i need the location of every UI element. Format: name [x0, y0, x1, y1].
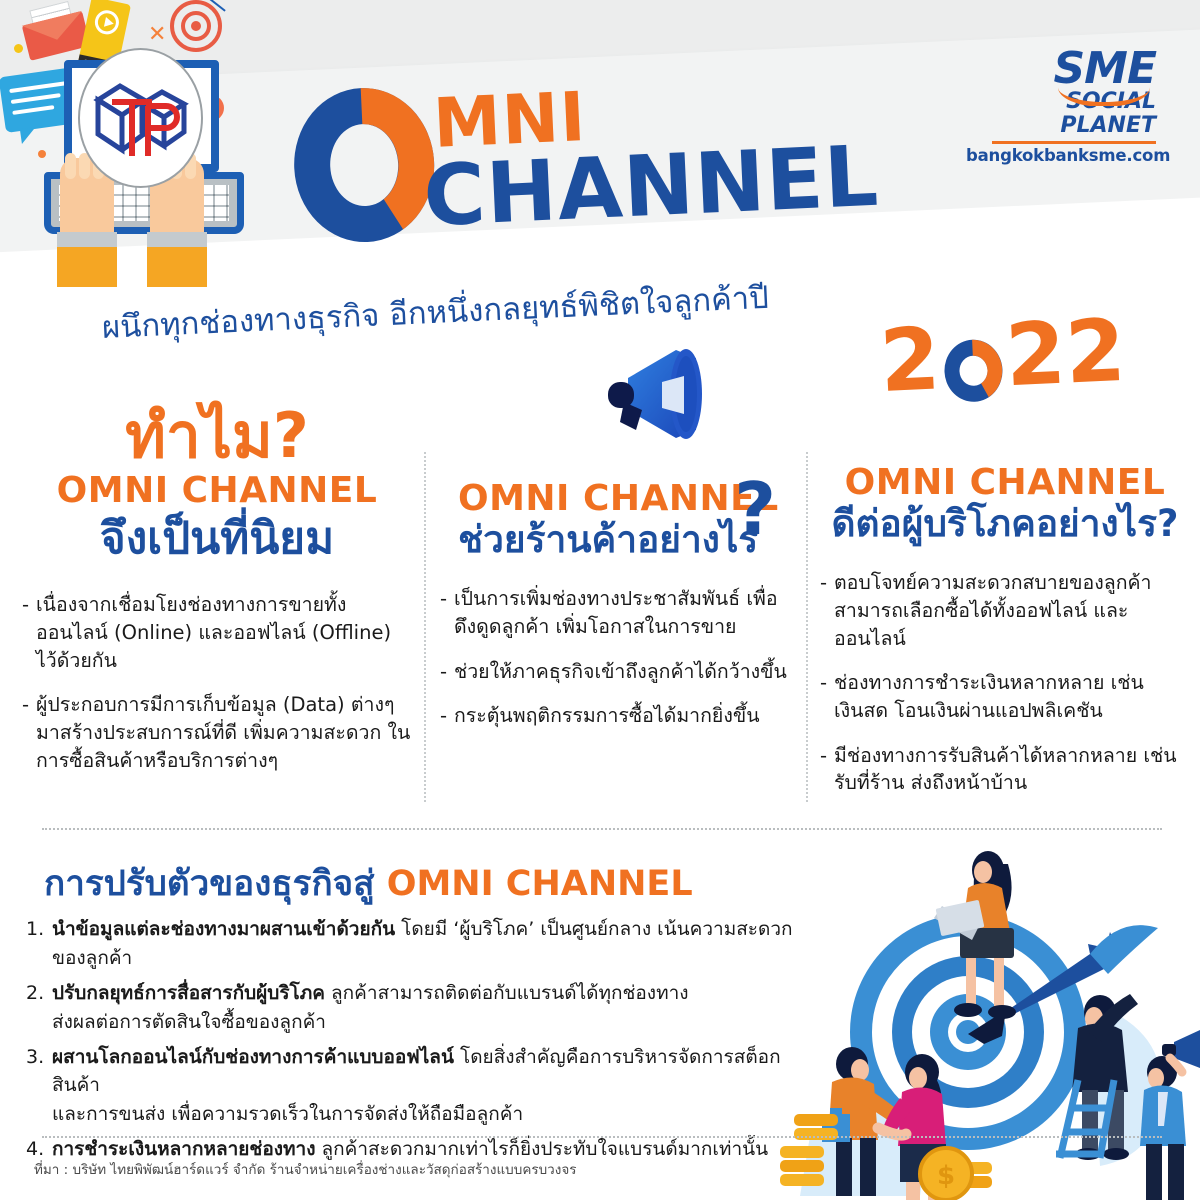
list-item: 2. ปรับกลยุทธ์การสื่อสารกับผู้บริโภค ลูก… — [26, 979, 816, 1037]
omni-o-ring-icon — [287, 81, 442, 250]
col1-heading-big: ทำไม? — [22, 404, 412, 468]
bullet-text: มีช่องทางการรับสินค้าได้หลากหลาย เช่น รั… — [834, 742, 1190, 797]
sme-logo-url: bangkokbanksme.com — [966, 146, 1156, 165]
column-consumer-benefits: OMNI CHANNEL ดีต่อผู้บริโภคอย่างไร? - ตอ… — [820, 404, 1190, 814]
step-bold: การชำระเงินหลากหลายช่องทาง — [52, 1138, 315, 1160]
col3-heading-blue: ดีต่อผู้บริโภคอย่างไร? — [820, 504, 1190, 545]
sme-social-planet-logo[interactable]: SME SOCIAL PLANET bangkokbanksme.com — [966, 48, 1156, 165]
list-item: 3. ผสานโลกออนไลน์กับช่องทางการค้าแบบออฟไ… — [26, 1043, 816, 1130]
bullet-dash: - — [820, 569, 834, 652]
col1-heading-blue: จึงเป็นที่นิยม — [22, 515, 412, 563]
bullet-dash: - — [440, 702, 454, 730]
step-number: 1. — [26, 915, 52, 973]
flat-icons-cluster: ✕ — [0, 0, 330, 300]
col3-heading-brand: OMNI CHANNEL — [820, 462, 1190, 504]
list-item: - กระตุ้นพฤติกรรมการซื้อได้มากยิ่งขึ้น — [440, 702, 800, 730]
step-rest: ลูกค้าสามารถติดต่อกับแบรนด์ได้ทุกช่องทาง — [325, 982, 689, 1004]
bullet-text: ช่องทางการชำระเงินหลากหลาย เช่น เงินสด โ… — [834, 669, 1190, 724]
step-rest: ลูกค้าสะดวกมากเท่าไรก็ยิ่งประทับใจแบรนด์… — [315, 1138, 768, 1160]
step-continuation: ส่งผลต่อการตัดสินใจซื้อของลูกค้า — [52, 1008, 816, 1037]
column-divider-1 — [424, 452, 426, 802]
dot-decor-3 — [14, 44, 23, 53]
list-item: - เนื่องจากเชื่อมโยงช่องทางการขายทั้งออน… — [22, 591, 412, 674]
omni-channel-wordmark: MNI CHANNEL — [286, 45, 974, 266]
col3-heading-group: OMNI CHANNEL ดีต่อผู้บริโภคอย่างไร? — [820, 462, 1190, 545]
three-column-section: ทำไม? OMNI CHANNEL จึงเป็นที่นิยม - เนื่… — [0, 404, 1200, 824]
target-icon — [170, 0, 222, 52]
col2-question-mark: ? — [734, 484, 776, 534]
bullet-dash: - — [440, 658, 454, 686]
bullet-dash: - — [820, 742, 834, 797]
list-item: - เป็นการเพิ่มช่องทางประชาสัมพันธ์ เพื่อ… — [440, 585, 800, 640]
step-bold: นำข้อมูลแต่ละช่องทางมาผสานเข้าด้วยกัน — [52, 918, 395, 940]
col3-bullet-list: - ตอบโจทย์ความสะดวกสบายของลูกค้า สามารถเ… — [820, 569, 1190, 797]
col1-bullet-list: - เนื่องจากเชื่อมโยงช่องทางการขายทั้งออน… — [22, 591, 412, 774]
col1-heading-brand: OMNI CHANNEL — [22, 470, 412, 512]
bullet-dash: - — [22, 691, 36, 774]
list-item: 1. นำข้อมูลแต่ละช่องทางมาผสานเข้าด้วยกัน… — [26, 915, 816, 973]
col2-bullet-list: - เป็นการเพิ่มช่องทางประชาสัมพันธ์ เพื่อ… — [440, 585, 800, 730]
cross-decor-icon: ✕ — [148, 22, 166, 47]
bullet-dash: - — [820, 669, 834, 724]
dot-decor-2 — [38, 150, 46, 158]
list-item: - ตอบโจทย์ความสะดวกสบายของลูกค้า สามารถเ… — [820, 569, 1190, 652]
step-bold: ผสานโลกออนไลน์กับช่องทางการค้าแบบออฟไลน์ — [52, 1046, 454, 1068]
year-suffix: 22 — [1003, 301, 1127, 406]
company-logo-badge — [78, 48, 203, 188]
step-continuation: และการขนส่ง เพื่อความรวดเร็วในการจัดส่งใ… — [52, 1100, 816, 1129]
megaphone-icon — [600, 338, 720, 448]
bottom-title-english: OMNI CHANNEL — [387, 864, 693, 904]
column-how-helps-shops: OMNI CHANNEL ช่วยร้านค้าอย่างไร ? - เป็น… — [440, 404, 800, 747]
year-prefix: 2 — [878, 309, 942, 412]
tpp-logo-icon — [90, 72, 196, 168]
bullet-text: เนื่องจากเชื่อมโยงช่องทางการขายทั้งออนไล… — [36, 591, 412, 674]
column-why-omni: ทำไม? OMNI CHANNEL จึงเป็นที่นิยม - เนื่… — [22, 404, 412, 791]
year-2022: 2 22 — [878, 301, 1128, 412]
bullet-text: กระตุ้นพฤติกรรมการซื้อได้มากยิ่งขึ้น — [454, 702, 800, 730]
target-team-illustration: $ — [770, 836, 1200, 1200]
bullet-dash: - — [440, 585, 454, 640]
section-divider-top — [42, 828, 1162, 830]
list-item: - ช่วยให้ภาคธุรกิจเข้าถึงลูกค้าได้กว้างข… — [440, 658, 800, 686]
sme-logo-swoosh-icon — [1058, 84, 1150, 106]
source-credit-text: ที่มา : บริษัท ไทยพิพัฒน์ฮาร์ดแวร์ จำกัด… — [34, 1158, 577, 1180]
step-bold: ปรับกลยุทธ์การสื่อสารกับผู้บริโภค — [52, 982, 325, 1004]
bottom-section-title: การปรับตัวของธุรกิจสู่ OMNI CHANNEL — [44, 856, 693, 911]
sme-logo-divider — [992, 141, 1156, 144]
list-item: - ผู้ประกอบการมีการเก็บข้อมูล (Data) ต่า… — [22, 691, 412, 774]
header-background: ✕ — [0, 0, 1200, 300]
bullet-text: เป็นการเพิ่มช่องทางประชาสัมพันธ์ เพื่อดึ… — [454, 585, 800, 640]
col2-heading-group: OMNI CHANNEL ช่วยร้านค้าอย่างไร ? — [440, 478, 800, 561]
bullet-text: ช่วยให้ภาคธุรกิจเข้าถึงลูกค้าได้กว้างขึ้… — [454, 658, 800, 686]
section-divider-bottom — [42, 1136, 1162, 1138]
step-text: ปรับกลยุทธ์การสื่อสารกับผู้บริโภค ลูกค้า… — [52, 979, 816, 1037]
bullet-text: ผู้ประกอบการมีการเก็บข้อมูล (Data) ต่างๆ… — [36, 691, 412, 774]
bottom-title-thai: การปรับตัวของธุรกิจสู่ — [44, 864, 387, 904]
column-divider-2 — [806, 452, 808, 802]
step-number: 3. — [26, 1043, 52, 1130]
year-zero-ring-icon — [940, 323, 1005, 392]
step-number: 2. — [26, 979, 52, 1037]
infographic-page: ✕ — [0, 0, 1200, 1200]
bullet-text: ตอบโจทย์ความสะดวกสบายของลูกค้า สามารถเลื… — [834, 569, 1190, 652]
adaptation-steps-list: 1. นำข้อมูลแต่ละช่องทางมาผสานเข้าด้วยกัน… — [26, 915, 816, 1170]
step-text: นำข้อมูลแต่ละช่องทางมาผสานเข้าด้วยกัน โด… — [52, 915, 816, 973]
bullet-dash: - — [22, 591, 36, 674]
list-item: - ช่องทางการชำระเงินหลากหลาย เช่น เงินสด… — [820, 669, 1190, 724]
step-text: ผสานโลกออนไลน์กับช่องทางการค้าแบบออฟไลน์… — [52, 1043, 816, 1130]
wordmark-channel-text: CHANNEL — [421, 127, 880, 246]
svg-text:$: $ — [937, 1161, 955, 1191]
list-item: - มีช่องทางการรับสินค้าได้หลากหลาย เช่น … — [820, 742, 1190, 797]
